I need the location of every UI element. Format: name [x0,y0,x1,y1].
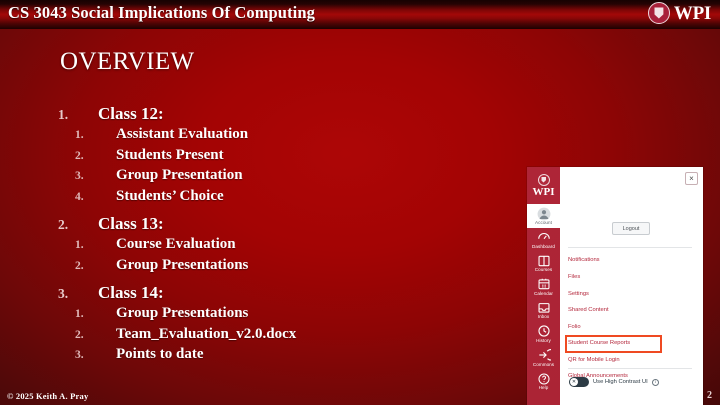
canvas-link-folio[interactable]: Folio [568,319,700,336]
list-label: Team_Evaluation_v2.0.docx [116,326,296,343]
canvas-nav-label: Calendar [534,292,553,297]
divider [568,368,692,369]
close-icon[interactable]: × [685,172,698,185]
courses-book-icon [537,254,551,268]
slide-banner: CS 3043 Social Implications Of Computing… [0,0,720,29]
canvas-nav-label: History [536,339,551,344]
list-label: Class 12: [98,104,164,124]
canvas-link-student-course-reports[interactable]: Student Course Reports [568,336,700,353]
list-label: Group Presentations [116,257,248,274]
course-title: CS 3043 Social Implications Of Computing [8,3,315,23]
calendar-icon [537,277,551,291]
high-contrast-toggle[interactable]: ✕ [569,377,589,387]
list-label: Class 14: [98,283,164,303]
canvas-nav-courses[interactable]: Courses [527,251,560,275]
canvas-wpi-wordmark: WPI [533,187,555,198]
canvas-account-tray-screenshot: WPI AccountDashboardCoursesCalendarInbox… [527,167,703,405]
canvas-nav-calendar[interactable]: Calendar [527,275,560,299]
clock-history-icon [537,324,551,338]
canvas-link-qr-for-mobile-login[interactable]: QR for Mobile Login [568,352,700,369]
list-number: 2. [58,329,116,341]
list-number: 2. [58,260,116,272]
list-label: Assistant Evaluation [116,126,248,143]
list-label: Course Evaluation [116,236,236,253]
list-label: Group Presentations [116,305,248,322]
outline-item-level2: 2.Team_Evaluation_v2.0.docx [58,326,498,347]
wpi-seal-icon [538,174,550,186]
wpi-seal-icon [648,2,670,24]
outline-item-level2: 2.Group Presentations [58,257,498,278]
list-number: 3. [58,170,116,182]
high-contrast-row: ✕ Use High Contrast UI i [569,377,659,387]
list-label: Students’ Choice [116,188,224,205]
canvas-global-nav: WPI AccountDashboardCoursesCalendarInbox… [527,167,560,405]
outline-group: 2.Class 13:1.Course Evaluation2.Group Pr… [58,214,498,277]
high-contrast-label: Use High Contrast UI [593,379,648,385]
canvas-wpi-logo[interactable]: WPI [530,170,557,201]
user-avatar-icon [537,207,551,221]
canvas-nav-help[interactable]: Help [527,369,560,393]
list-label: Students Present [116,147,224,164]
list-number: 4. [58,191,116,203]
copyright-notice: © 2025 Keith A. Pray [7,391,88,401]
commons-arrow-icon [537,348,551,362]
canvas-nav-label: Inbox [538,315,550,320]
outline-item-level2: 3.Group Presentation [58,167,498,188]
page-number: 2 [707,390,712,401]
list-label: Group Presentation [116,167,243,184]
canvas-nav-commons[interactable]: Commons [527,346,560,370]
canvas-link-settings[interactable]: Settings [568,286,700,303]
list-number: 1. [58,107,98,123]
outline-item-level2: 1.Course Evaluation [58,236,498,257]
outline-item-level1: 1.Class 12: [58,104,498,125]
list-number: 1. [58,308,116,320]
canvas-nav-label: Commons [533,363,554,368]
outline-group: 1.Class 12:1.Assistant Evaluation2.Stude… [58,104,498,208]
outline-item-level2: 3.Points to date [58,346,498,367]
canvas-tray-body: × Logout NotificationsFilesSettingsShare… [560,167,703,405]
canvas-nav-label: Help [539,386,549,391]
outline-item-level1: 2.Class 13: [58,214,498,235]
canvas-nav-dashboard[interactable]: Dashboard [527,228,560,252]
canvas-nav-history[interactable]: History [527,322,560,346]
inbox-tray-icon [537,301,551,315]
toggle-knob: ✕ [570,378,578,386]
logout-button[interactable]: Logout [612,222,650,235]
list-number: 2. [58,217,98,233]
help-question-icon [537,372,551,386]
canvas-link-shared-content[interactable]: Shared Content [568,303,700,320]
canvas-nav-account[interactable]: Account [527,204,560,228]
canvas-nav-label: Account [535,221,552,226]
slide-background: CS 3043 Social Implications Of Computing… [0,0,720,405]
list-label: Points to date [116,346,204,363]
outline-group: 3.Class 14:1.Group Presentations2.Team_E… [58,283,498,367]
wpi-logo: WPI [648,2,711,24]
canvas-nav-label: Courses [535,268,552,273]
outline-item-level2: 4.Students’ Choice [58,188,498,209]
outline-item-level1: 3.Class 14: [58,283,498,304]
list-number: 1. [58,129,116,141]
list-label: Class 13: [98,214,164,234]
list-number: 1. [58,239,116,251]
outline-item-level2: 1.Assistant Evaluation [58,126,498,147]
list-number: 2. [58,150,116,162]
outline-item-level2: 2.Students Present [58,147,498,168]
canvas-link-notifications[interactable]: Notifications [568,253,700,270]
canvas-menu-links: NotificationsFilesSettingsShared Content… [568,253,700,386]
info-icon[interactable]: i [652,379,659,386]
canvas-nav-inbox[interactable]: Inbox [527,298,560,322]
wpi-wordmark: WPI [674,4,711,23]
outline-list: 1.Class 12:1.Assistant Evaluation2.Stude… [58,104,498,373]
list-number: 3. [58,286,98,302]
outline-item-level2: 1.Group Presentations [58,305,498,326]
divider [568,247,692,248]
dashboard-speedometer-icon [537,230,551,244]
canvas-link-files[interactable]: Files [568,270,700,287]
list-number: 3. [58,349,116,361]
page-title: OVERVIEW [60,48,195,76]
canvas-nav-label: Dashboard [532,245,555,250]
